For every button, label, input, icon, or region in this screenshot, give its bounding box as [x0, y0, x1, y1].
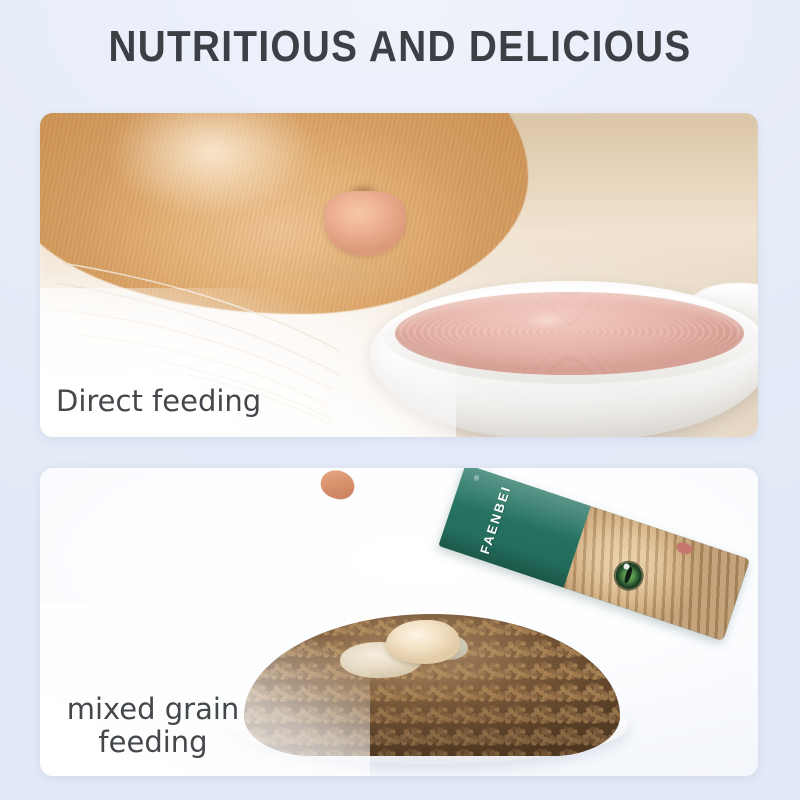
caption-mixed-grain-feeding: mixed grain feeding: [58, 693, 248, 759]
product-infographic: NUTRITIOUS AND DELICIOUS: [0, 0, 800, 800]
paste-peak-highlight: [517, 309, 578, 332]
page-title: NUTRITIOUS AND DELICIOUS: [48, 18, 752, 76]
caption-direct-feeding: Direct feeding: [56, 383, 261, 419]
cream-topping-center: [386, 620, 460, 664]
